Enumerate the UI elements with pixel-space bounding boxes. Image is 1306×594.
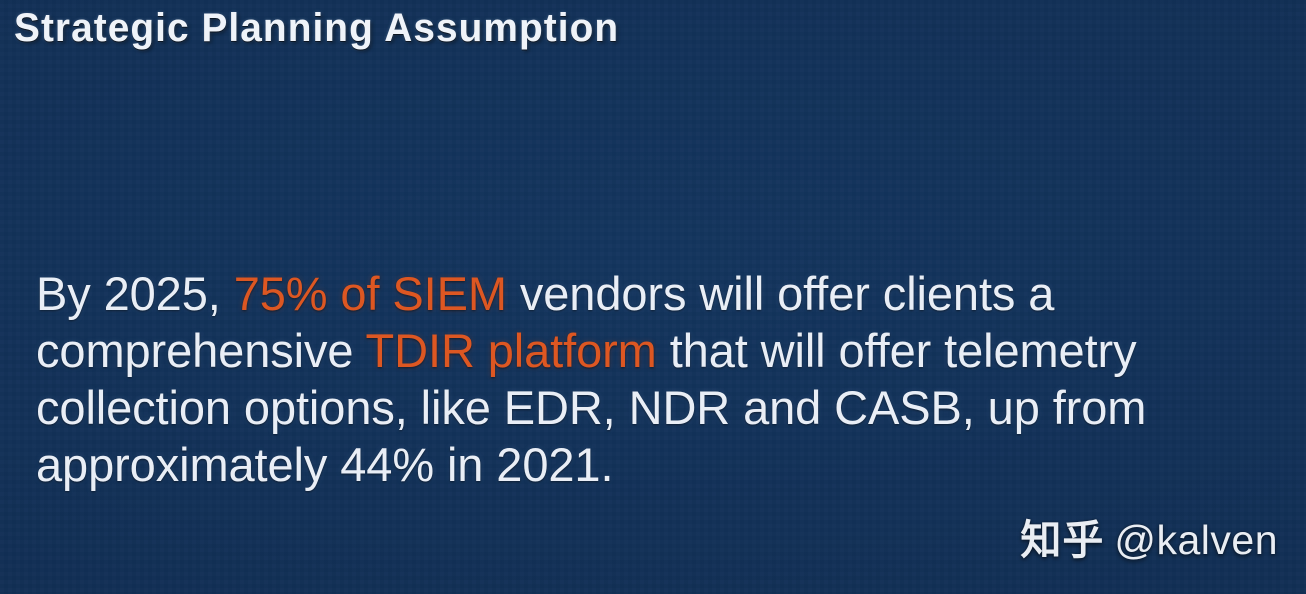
accent-term-siem: 75% of SIEM bbox=[234, 267, 507, 320]
watermark-handle: @kalven bbox=[1114, 517, 1278, 563]
body-line-4: approximately 44% in 2021. bbox=[36, 436, 1288, 493]
body-text-segment: comprehensive bbox=[36, 324, 366, 377]
body-text-segment: By 2025, bbox=[36, 267, 234, 320]
assumption-body: By 2025, 75% of SIEM vendors will offer … bbox=[36, 265, 1288, 493]
body-text-segment: vendors will offer clients a bbox=[507, 267, 1054, 320]
body-line-3: collection options, like EDR, NDR and CA… bbox=[36, 379, 1288, 436]
body-text-segment: collection options, like EDR, NDR and CA… bbox=[36, 381, 1146, 434]
zhihu-logo-text: 知乎 bbox=[1020, 517, 1104, 563]
body-text-segment: that will offer telemetry bbox=[657, 324, 1137, 377]
body-line-2: comprehensive TDIR platform that will of… bbox=[36, 322, 1288, 379]
accent-term-tdir: TDIR platform bbox=[366, 324, 657, 377]
body-text-segment: approximately 44% in 2021. bbox=[36, 438, 613, 491]
body-line-1: By 2025, 75% of SIEM vendors will offer … bbox=[36, 265, 1288, 322]
watermark: 知乎@kalven bbox=[1020, 506, 1278, 566]
page-title: Strategic Planning Assumption bbox=[14, 6, 619, 51]
slide-canvas: Strategic Planning Assumption By 2025, 7… bbox=[0, 0, 1306, 594]
